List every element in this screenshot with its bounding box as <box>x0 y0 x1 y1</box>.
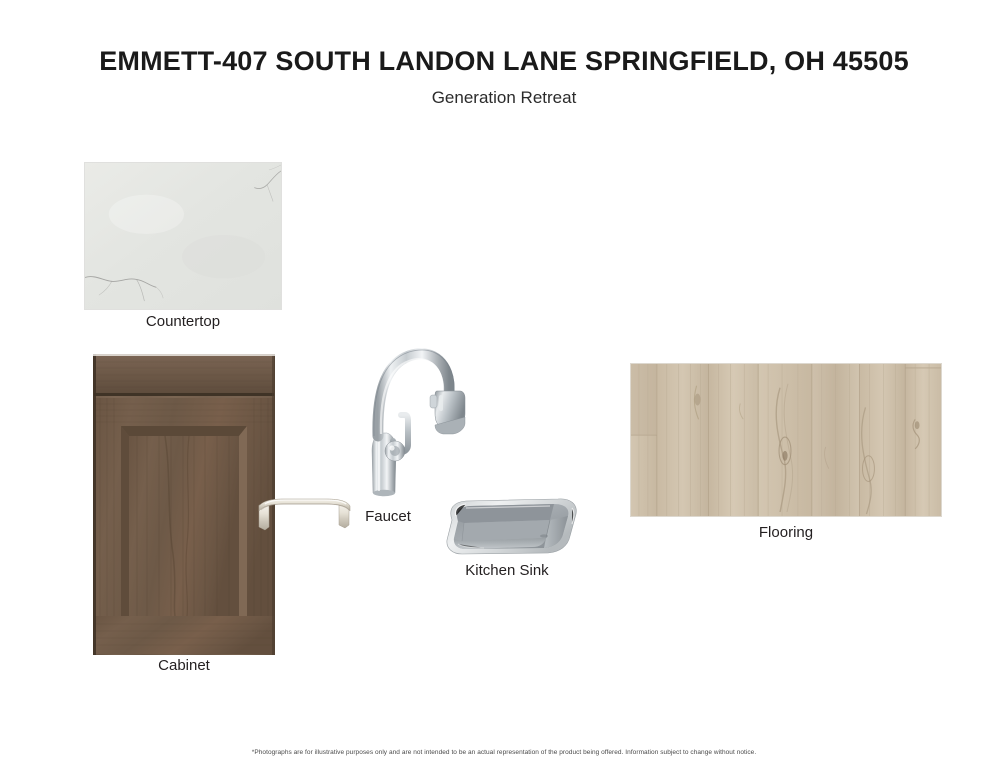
countertop-swatch-image[interactable] <box>84 162 282 310</box>
faucet-label: Faucet <box>342 508 434 526</box>
sheet-header: EMMETT-407 SOUTH LANDON LANE SPRINGFIELD… <box>0 44 1008 109</box>
undermount-sink-icon <box>432 496 582 558</box>
page-subtitle: Generation Retreat <box>0 87 1008 109</box>
kitchen-sink-label: Kitchen Sink <box>432 562 582 580</box>
cabinet-door-icon <box>93 354 275 655</box>
cabinet-label: Cabinet <box>93 657 275 675</box>
cabinet-handle-swatch-image[interactable] <box>255 497 353 535</box>
kitchen-faucet-icon <box>357 341 467 502</box>
countertop-label: Countertop <box>84 313 282 331</box>
disclaimer-text: *Photographs are for illustrative purpos… <box>0 748 1008 758</box>
wood-plank-icon <box>631 364 941 516</box>
kitchen-sink-swatch-image[interactable] <box>432 496 582 558</box>
cabinet-swatch-image[interactable] <box>93 354 275 655</box>
flooring-swatch-image[interactable] <box>630 363 942 517</box>
design-selection-sheet: EMMETT-407 SOUTH LANDON LANE SPRINGFIELD… <box>0 0 1008 778</box>
page-title: EMMETT-407 SOUTH LANDON LANE SPRINGFIELD… <box>0 44 1008 78</box>
flooring-label: Flooring <box>630 524 942 542</box>
cabinet-pull-icon <box>255 497 353 535</box>
countertop-veining-icon <box>85 163 281 309</box>
faucet-swatch-image[interactable] <box>357 341 467 502</box>
